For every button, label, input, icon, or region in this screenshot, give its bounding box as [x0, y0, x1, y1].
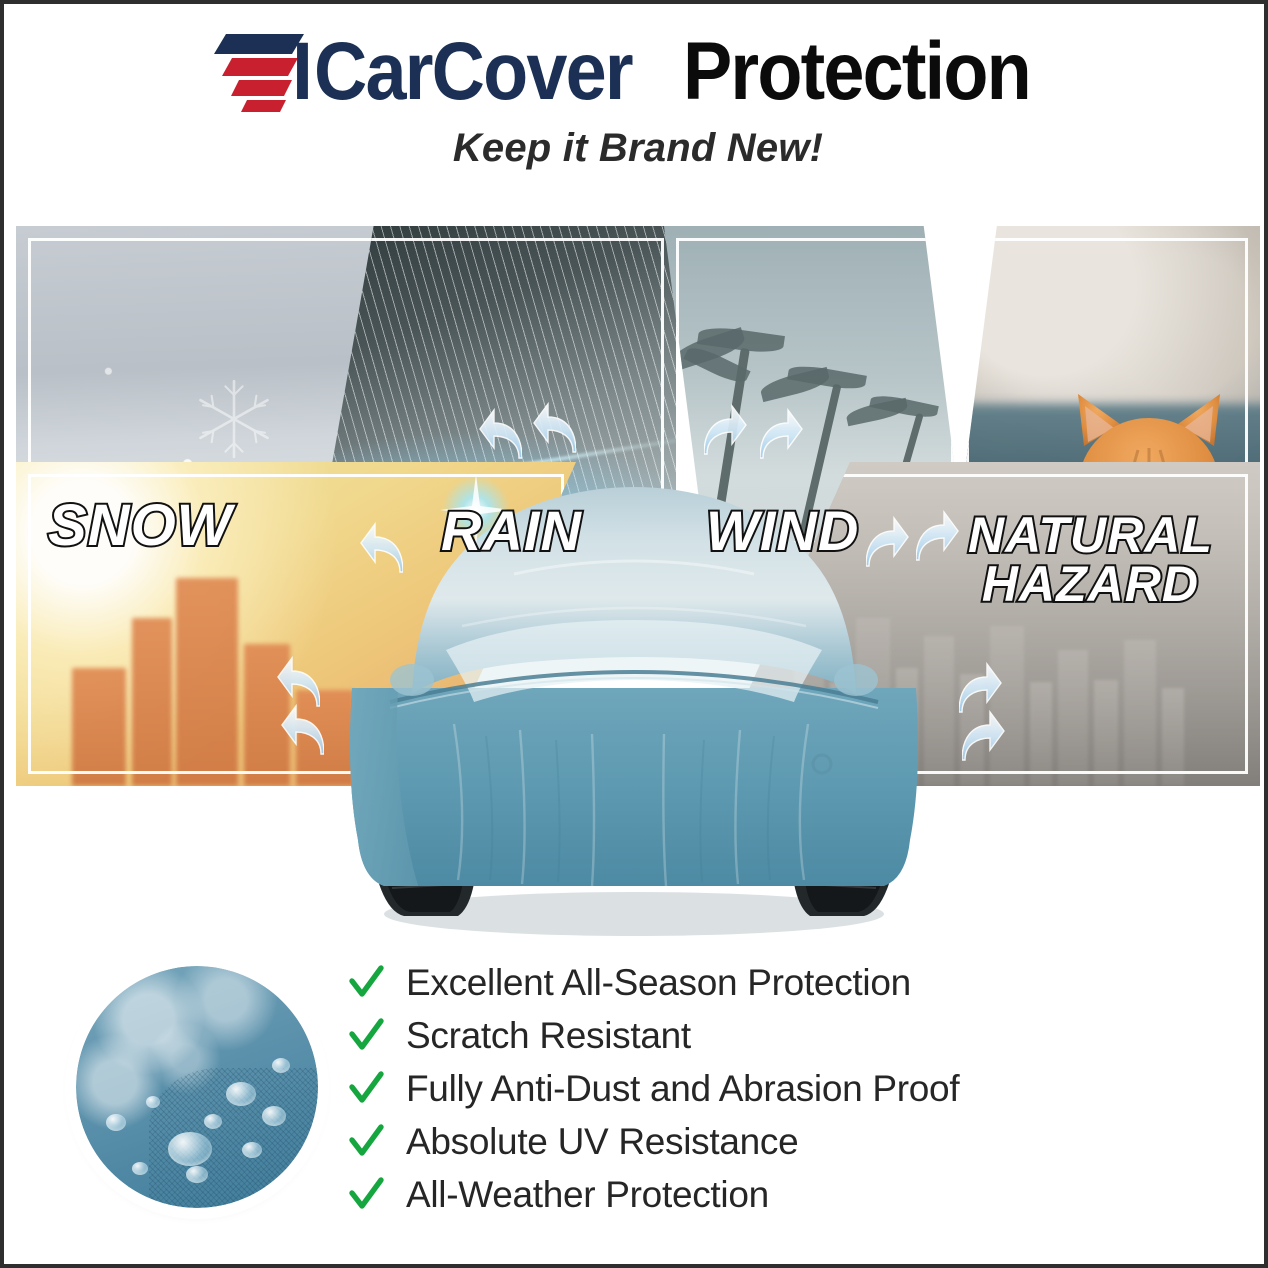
feature-label: All-Weather Protection	[406, 1174, 769, 1216]
feature-label: Excellent All-Season Protection	[406, 962, 911, 1004]
brand-name: CarCover	[314, 30, 632, 114]
water-droplet	[242, 1142, 262, 1158]
list-item: Absolute UV Resistance	[348, 1115, 1148, 1168]
green-check-icon	[348, 965, 384, 1001]
list-item: Scratch Resistant	[348, 1009, 1148, 1062]
feature-label: Fully Anti-Dust and Abrasion Proof	[406, 1068, 959, 1110]
panel-label-rain: RAIN	[441, 504, 582, 559]
city-building	[72, 668, 126, 786]
feature-label: Absolute UV Resistance	[406, 1121, 798, 1163]
bounce-arrow-icon	[276, 656, 320, 708]
water-droplet	[146, 1096, 160, 1108]
bounce-arrow-icon	[478, 408, 522, 460]
brand-lockup: I CarCover Protection	[4, 26, 1268, 118]
water-droplet	[168, 1132, 212, 1166]
water-droplet	[272, 1058, 290, 1073]
bounce-arrow-icon	[760, 408, 804, 460]
list-item: Excellent All-Season Protection	[348, 956, 1148, 1009]
brand-suffix: Protection	[683, 30, 1030, 114]
panel-label-snow: SNOW	[48, 498, 232, 555]
water-droplet	[226, 1082, 256, 1106]
bounce-arrow-icon	[280, 704, 324, 756]
green-check-icon	[348, 1018, 384, 1054]
green-check-icon	[348, 1177, 384, 1213]
bounce-arrow-icon	[359, 522, 403, 574]
water-beading-inset	[76, 966, 318, 1208]
green-check-icon	[348, 1071, 384, 1107]
feature-list: Excellent All-Season Protection Scratch …	[348, 956, 1148, 1221]
bounce-arrow-icon	[959, 662, 1003, 714]
bounce-arrow-icon	[704, 404, 748, 456]
list-item: Fully Anti-Dust and Abrasion Proof	[348, 1062, 1148, 1115]
panel-label-wind: WIND	[706, 504, 859, 559]
list-item: All-Weather Protection	[348, 1168, 1148, 1221]
product-infographic: I CarCover Protection Keep it Brand New!	[0, 0, 1268, 1268]
green-check-icon	[348, 1124, 384, 1160]
city-building	[132, 618, 172, 786]
bounce-arrow-icon	[962, 710, 1006, 762]
water-droplet	[186, 1166, 208, 1183]
snowflake-icon	[191, 376, 277, 462]
tagline: Keep it Brand New!	[4, 126, 1268, 171]
brand-initial: I	[292, 30, 312, 114]
header: I CarCover Protection Keep it Brand New!	[4, 26, 1268, 171]
feature-label: Scratch Resistant	[406, 1015, 691, 1057]
bounce-arrow-icon	[532, 402, 576, 454]
bounce-arrow-icon	[866, 516, 910, 568]
water-droplet	[262, 1106, 286, 1126]
panel-label-natural-hazard: NATURAL HAZARD	[968, 511, 1213, 609]
water-droplet	[204, 1114, 222, 1129]
water-droplet	[106, 1114, 126, 1131]
bounce-arrow-icon	[916, 510, 960, 562]
water-droplet	[132, 1162, 148, 1175]
city-building	[176, 578, 238, 786]
